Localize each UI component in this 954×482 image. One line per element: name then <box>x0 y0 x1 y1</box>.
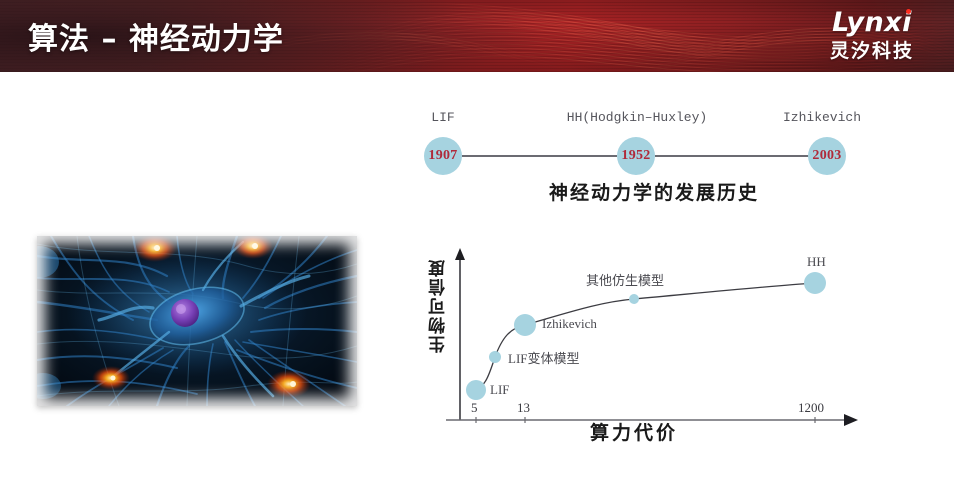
point-label-hh: HH <box>807 254 826 270</box>
neuron-illustration <box>37 236 357 406</box>
data-point-other-bionic <box>629 294 639 304</box>
x-tick-label-0: 5 <box>471 400 478 416</box>
trend-curve <box>476 283 815 390</box>
point-label-other-bionic: 其他仿生模型 <box>586 270 664 289</box>
data-point-hh <box>804 272 826 294</box>
timeline-node-2[interactable]: 2003 <box>808 137 846 175</box>
y-axis-title: 生物可信度 <box>426 258 448 353</box>
timeline-segment-2 <box>655 155 810 157</box>
x-tick-label-2: 1200 <box>798 400 824 416</box>
timeline-caption: 神经动力学的发展历史 <box>404 178 904 205</box>
point-label-lif-variant: LIF变体模型 <box>508 348 580 367</box>
slide-root: 算法 – 神经动力学 Lynxi 灵汐科技 <box>0 0 954 482</box>
data-point-lif-variant <box>489 351 501 363</box>
biological-plausibility-chart: LIF LIF变体模型 Izhikevich 其他仿生模型 HH 5 13 12… <box>420 240 890 455</box>
point-label-izhikevich: Izhikevich <box>542 316 597 332</box>
logo-wordmark-text: Lynxi <box>832 7 912 38</box>
timeline-segment-1 <box>462 155 617 157</box>
x-axis-title: 算力代价 <box>590 418 678 445</box>
timeline-node-1[interactable]: 1952 <box>617 137 655 175</box>
timeline-label-2: Izhikevich <box>752 110 892 125</box>
logo-wordmark: Lynxi <box>832 8 912 38</box>
slide-header: 算法 – 神经动力学 Lynxi 灵汐科技 <box>0 0 954 72</box>
timeline-node-0[interactable]: 1907 <box>424 137 462 175</box>
timeline-label-1: HH(Hodgkin–Huxley) <box>542 110 732 125</box>
brand-logo: Lynxi 灵汐科技 <box>812 8 932 62</box>
timeline-label-0: LIF <box>404 110 482 125</box>
point-label-lif: LIF <box>490 382 510 398</box>
x-tick-label-1: 13 <box>517 400 530 416</box>
neuron-artwork <box>37 236 357 406</box>
data-point-izhikevich <box>514 314 536 336</box>
logo-dot-icon <box>906 9 911 14</box>
data-point-lif <box>466 380 486 400</box>
history-timeline: LIF 1907 HH(Hodgkin–Huxley) 1952 Izhikev… <box>404 100 904 220</box>
x-axis-arrow <box>844 414 858 426</box>
y-axis-arrow <box>455 248 465 260</box>
page-title: 算法 – 神经动力学 <box>28 14 284 58</box>
logo-chinese-name: 灵汐科技 <box>812 40 932 62</box>
